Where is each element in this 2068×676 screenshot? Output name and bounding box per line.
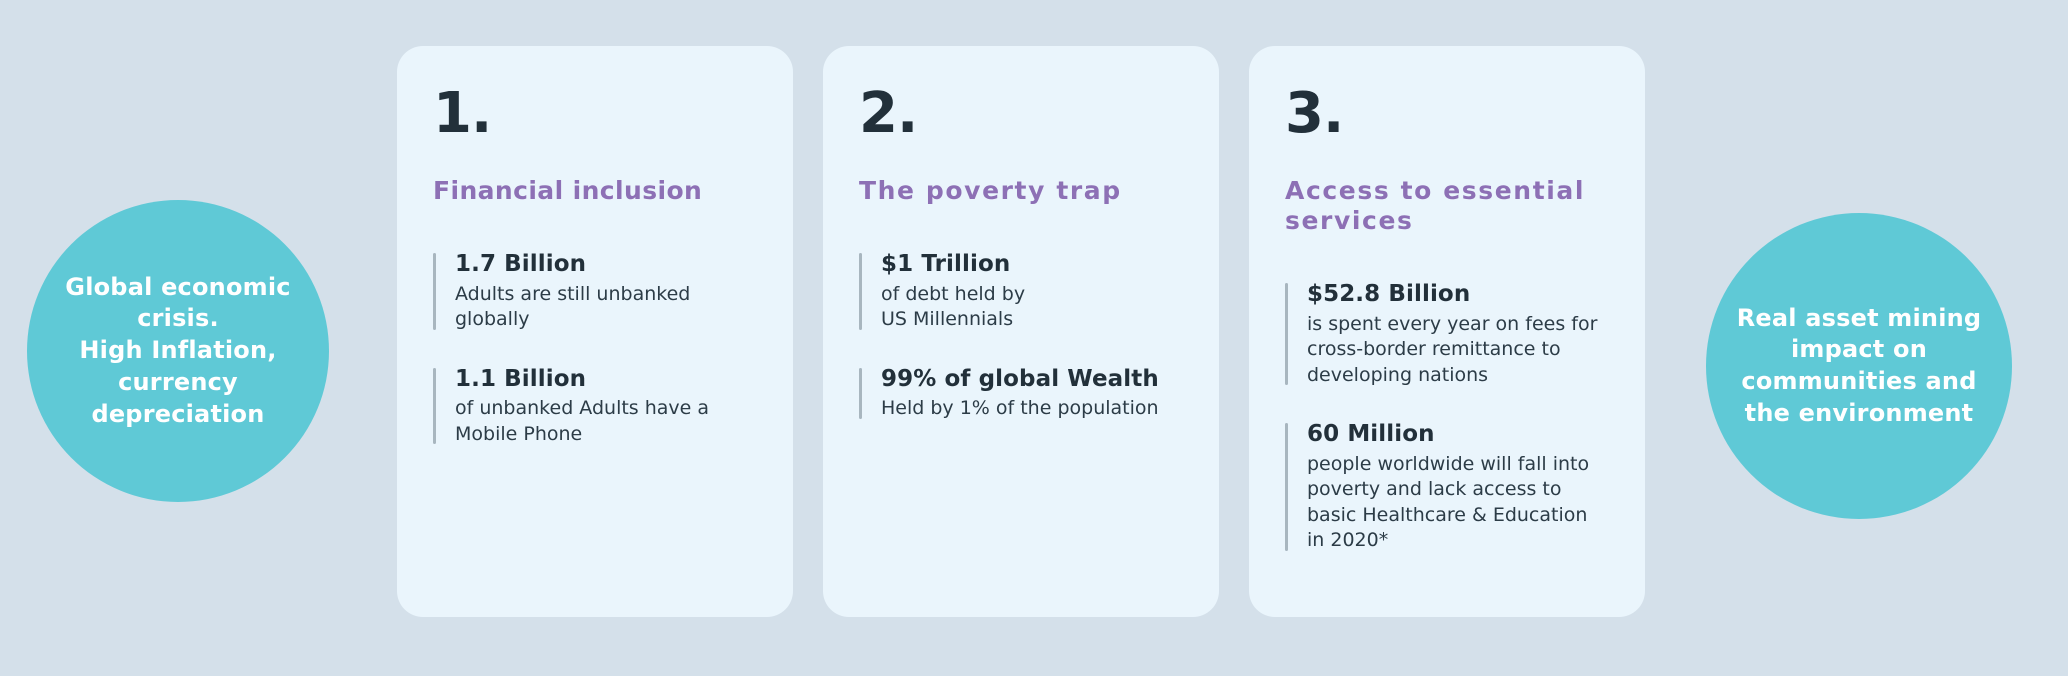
stat-accent-bar [859,253,862,330]
infographic-canvas: Global economic crisis. High Inflation, … [0,0,2068,676]
card-access-essential-services[interactable]: 3. Access to essential services $52.8 Bi… [1249,46,1645,617]
stat-accent-bar [433,253,436,330]
stat-description: is spent every year on fees for cross-bo… [1307,312,1609,388]
stat-item: $52.8 Billion is spent every year on fee… [1285,280,1609,388]
left-context-circle: Global economic crisis. High Inflation, … [27,200,329,502]
stat-accent-bar [1285,423,1288,551]
stat-accent-bar [859,368,862,419]
stat-accent-bar [1285,283,1288,385]
card-number: 1. [433,86,757,142]
stat-description: of debt held by US Millennials [881,282,1183,333]
stat-description: people worldwide will fall into poverty … [1307,452,1609,554]
stat-value: 1.1 Billion [455,365,757,394]
card-poverty-trap[interactable]: 2. The poverty trap $1 Trillion of debt … [823,46,1219,617]
card-stats-list: 1.7 Billion Adults are still unbanked gl… [433,250,757,447]
card-number: 3. [1285,86,1609,142]
stat-value: 99% of global Wealth [881,365,1183,394]
stat-description: Adults are still unbanked globally [455,282,757,333]
stat-item: $1 Trillion of debt held by US Millennia… [859,250,1183,333]
card-title: Access to essential services [1285,176,1609,236]
stat-description: Held by 1% of the population [881,396,1183,421]
card-stats-list: $52.8 Billion is spent every year on fee… [1285,280,1609,554]
right-circle-label: Real asset mining impact on communities … [1706,303,2012,430]
card-number: 2. [859,86,1183,142]
left-circle-label: Global economic crisis. High Inflation, … [27,272,329,430]
stat-value: 1.7 Billion [455,250,757,279]
stat-item: 1.7 Billion Adults are still unbanked gl… [433,250,757,333]
card-stats-list: $1 Trillion of debt held by US Millennia… [859,250,1183,422]
stat-item: 60 Million people worldwide will fall in… [1285,420,1609,554]
cards-row: 1. Financial inclusion 1.7 Billion Adult… [397,46,1645,617]
stat-value: $1 Trillion [881,250,1183,279]
card-title: Financial inclusion [433,176,757,206]
card-title: The poverty trap [859,176,1183,206]
right-context-circle: Real asset mining impact on communities … [1706,213,2012,519]
stat-accent-bar [433,368,436,445]
stat-item: 99% of global Wealth Held by 1% of the p… [859,365,1183,422]
stat-item: 1.1 Billion of unbanked Adults have a Mo… [433,365,757,448]
stat-value: 60 Million [1307,420,1609,449]
card-financial-inclusion[interactable]: 1. Financial inclusion 1.7 Billion Adult… [397,46,793,617]
stat-description: of unbanked Adults have a Mobile Phone [455,396,757,447]
stat-value: $52.8 Billion [1307,280,1609,309]
